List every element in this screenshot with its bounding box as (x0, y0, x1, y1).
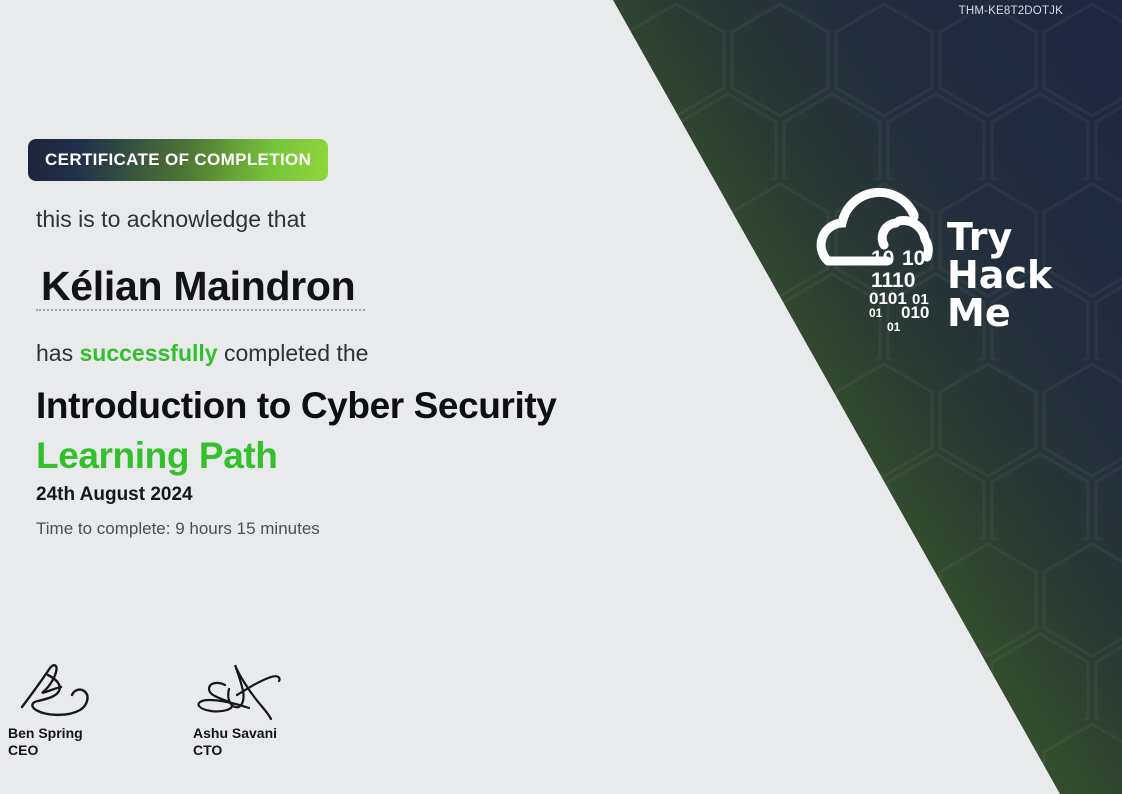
tryhackme-logo: 10 10 1110 0101 01 01 010 01 Try Hack Me (795, 185, 1085, 345)
logo-binary-row-7: 010 (901, 303, 929, 322)
acknowledgement-text: this is to acknowledge that (36, 206, 306, 233)
course-title: Introduction to Cyber SecurityLearning P… (36, 381, 556, 481)
signature-ashu-savani-icon (193, 655, 303, 725)
signature-ben-spring-icon (8, 655, 118, 725)
course-kind: Learning Path (36, 435, 278, 476)
recipient-name: Kélian Maindron (41, 263, 355, 310)
logo-word-me: Me (947, 291, 1011, 335)
course-name: Introduction to Cyber Security (36, 385, 556, 426)
status-badge-label: CERTIFICATE OF COMPLETION (45, 150, 311, 170)
signature-block: Ashu Savani CTO (193, 655, 303, 759)
status-badge: CERTIFICATE OF COMPLETION (28, 139, 328, 181)
signatory-name: Ashu Savani (193, 725, 303, 742)
completion-duration: Time to complete: 9 hours 15 minutes (36, 519, 320, 539)
signature-block: Ben Spring CEO (8, 655, 118, 759)
certificate-page: THM-KE8T2DOTJK 10 10 1110 0101 01 01 010… (0, 0, 1122, 794)
completion-prefix: has (36, 340, 79, 366)
completion-date: 24th August 2024 (36, 484, 193, 506)
logo-binary-row-1: 10 (871, 247, 894, 270)
logo-binary-row-8: 01 (887, 320, 901, 334)
certificate-id: THM-KE8T2DOTJK (959, 5, 1063, 17)
completion-statement: has successfully completed the (36, 340, 368, 367)
completion-emphasis: successfully (79, 340, 217, 366)
logo-binary-row-2: 10 (902, 247, 925, 270)
signatory-role: CTO (193, 742, 303, 759)
signatory-role: CEO (8, 742, 118, 759)
signature-area: Ben Spring CEO Ashu Savani CTO (8, 655, 303, 759)
logo-binary-row-6: 01 (869, 306, 883, 320)
completion-suffix: completed the (218, 340, 369, 366)
recipient-name-underline (36, 309, 365, 311)
signatory-name: Ben Spring (8, 725, 118, 742)
